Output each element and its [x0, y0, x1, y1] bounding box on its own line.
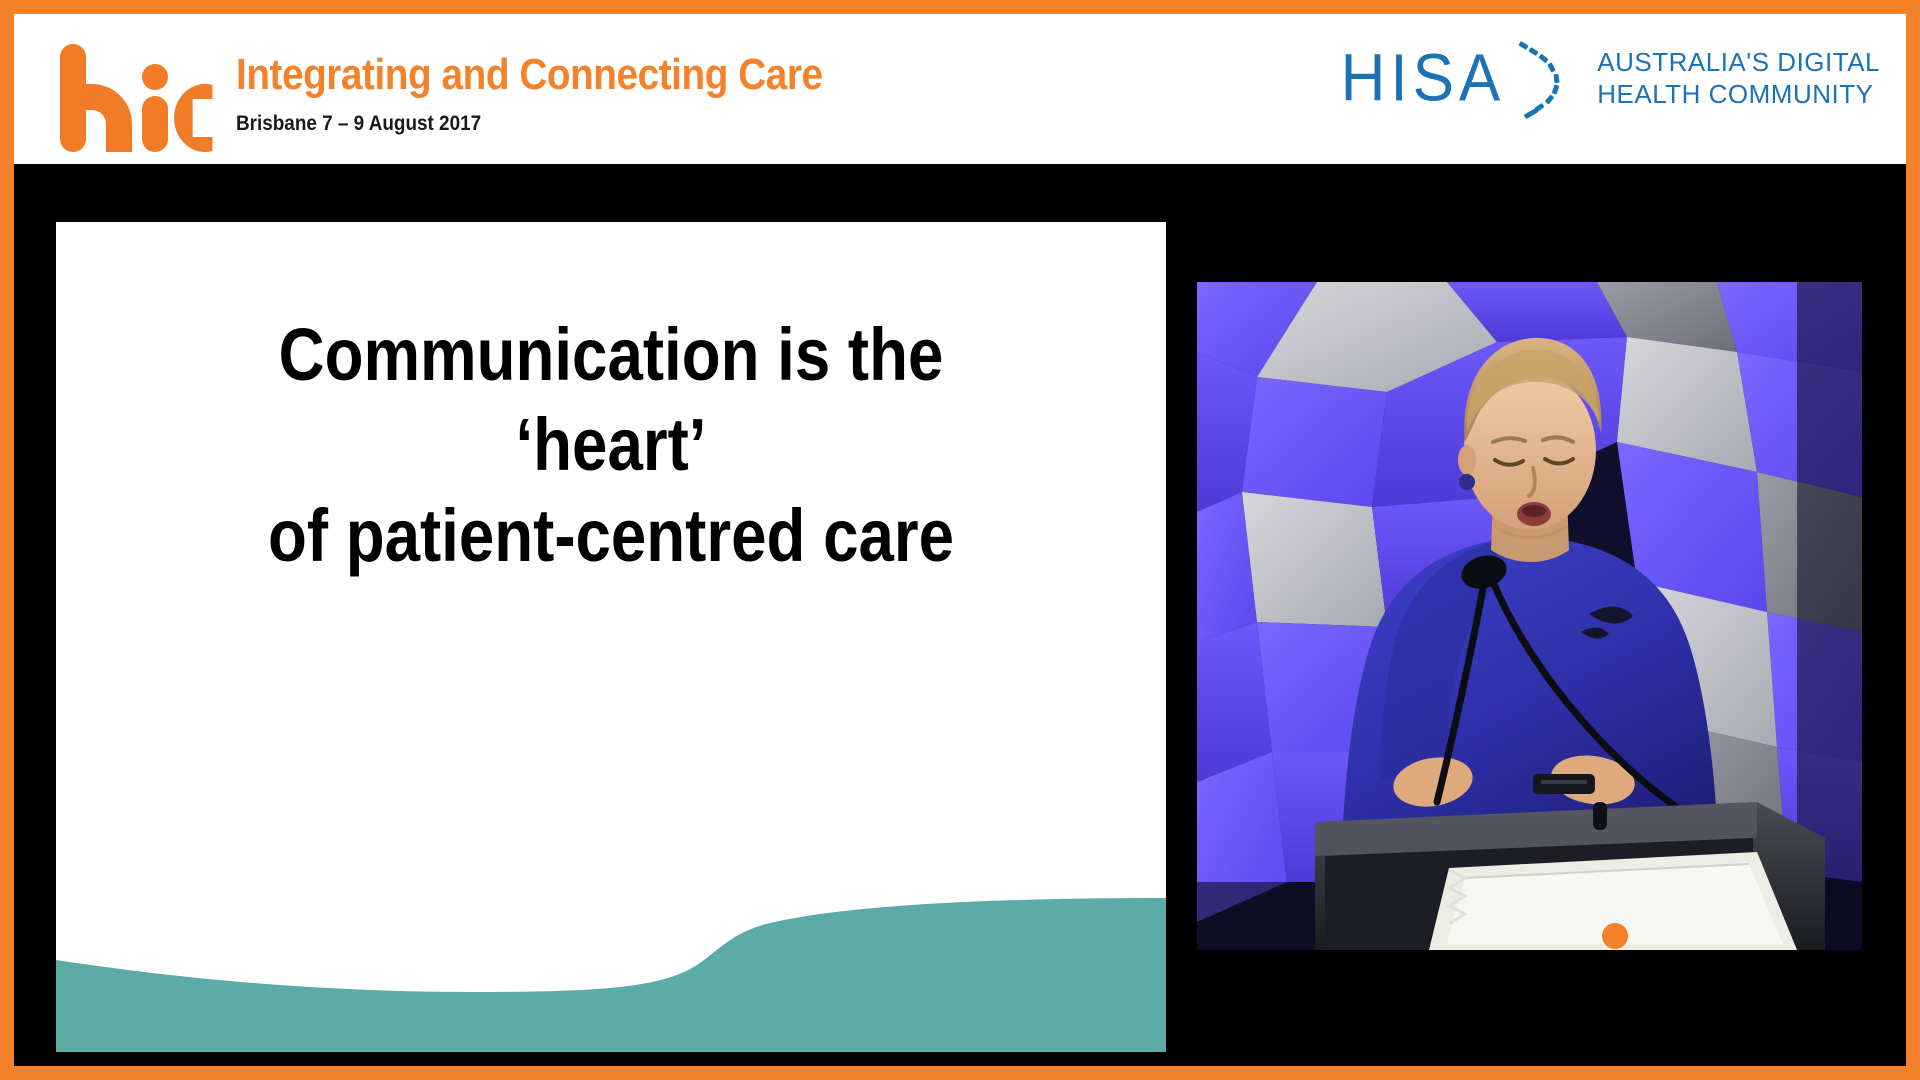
hisa-tagline-line-1: AUSTRALIA'S DIGITAL	[1597, 47, 1880, 79]
presentation-recording-frame: Integrating and Connecting Care Brisbane…	[0, 0, 1920, 1080]
slide-heading-line-2: ‘heart’	[168, 400, 1054, 490]
hisa-tagline-line-2: HEALTH COMMUNITY	[1597, 79, 1880, 111]
hic-h-leg	[106, 112, 132, 152]
hic-c-ring	[174, 84, 236, 152]
presentation-stage: Communication is the ‘heart’ of patient-…	[14, 164, 1906, 1066]
hic-i-stem	[142, 96, 168, 152]
hic-i-dot	[142, 64, 168, 90]
video-frame-content	[1197, 282, 1862, 950]
hisa-tagline: AUSTRALIA'S DIGITAL HEALTH COMMUNITY	[1597, 47, 1880, 110]
slide-heading-line-3: of patient-centred care	[168, 491, 1054, 581]
slide-teal-wave-decoration	[56, 882, 1166, 1052]
conference-header-bar: Integrating and Connecting Care Brisbane…	[14, 14, 1906, 164]
slide-heading: Communication is the ‘heart’ of patient-…	[134, 310, 1089, 581]
hic-logo-icon	[46, 34, 226, 144]
speaker-video-feed[interactable]	[1197, 282, 1862, 950]
hisa-logo: HISA AUSTRALIA'S DIGITAL HEALTH COMMUNIT…	[1341, 26, 1880, 132]
hisa-wordmark: HISA	[1341, 46, 1506, 113]
presentation-slide[interactable]: Communication is the ‘heart’ of patient-…	[56, 222, 1166, 1052]
slide-heading-line-1: Communication is the	[168, 310, 1054, 400]
conference-dates-location: Brisbane 7 – 9 August 2017	[236, 112, 481, 136]
conference-title: Integrating and Connecting Care	[236, 50, 823, 100]
lectern	[1315, 802, 1825, 950]
dotted-chevron-right-icon	[1517, 31, 1579, 127]
